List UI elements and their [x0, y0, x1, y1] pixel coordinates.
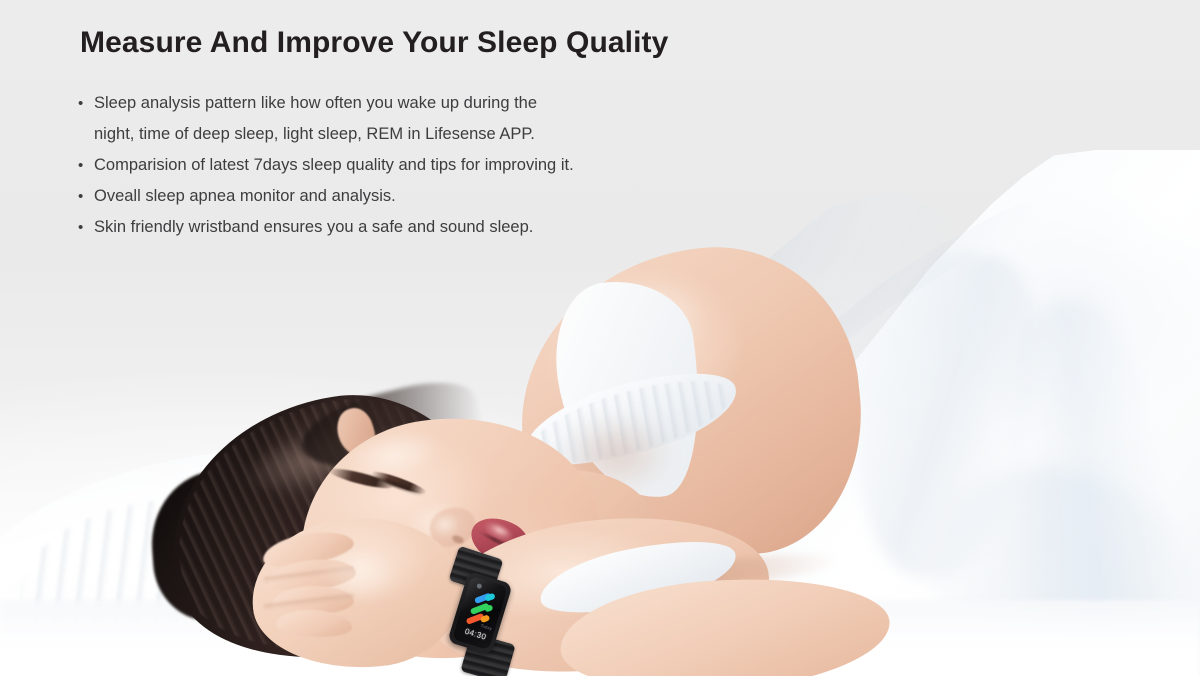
watch-sub-label: Today — [480, 623, 493, 631]
list-item-text: Sleep analysis pattern like how often yo… — [94, 88, 798, 150]
list-item-line: night, time of deep sleep, light sleep, … — [94, 119, 798, 150]
list-item-text: Comparision of latest 7days sleep qualit… — [94, 150, 798, 181]
list-item: • Comparision of latest 7days sleep qual… — [78, 150, 798, 181]
list-item-text: Oveall sleep apnea monitor and analysis. — [94, 181, 798, 212]
bullet-icon: • — [78, 150, 94, 181]
list-item: • Skin friendly wristband ensures you a … — [78, 212, 798, 243]
sleep-quality-banner: Today 04:30 Measure And Improve Your Sle… — [0, 0, 1200, 676]
bullet-icon: • — [78, 212, 94, 243]
watch-screen: Today 04:30 — [452, 576, 508, 650]
knuckle-highlight — [300, 540, 420, 620]
bullet-icon: • — [78, 181, 94, 212]
smartwatch: Today 04:30 — [449, 552, 517, 676]
list-item-line: Oveall sleep apnea monitor and analysis. — [94, 187, 396, 205]
accent-bar-icon — [480, 614, 491, 623]
list-item: • Oveall sleep apnea monitor and analysi… — [78, 181, 798, 212]
list-item-line: Skin friendly wristband ensures you a sa… — [94, 218, 533, 236]
feature-list: • Sleep analysis pattern like how often … — [78, 88, 798, 243]
watch-status-dot — [476, 583, 482, 589]
light-sleep-bar-icon — [484, 604, 494, 612]
page-title: Measure And Improve Your Sleep Quality — [80, 26, 668, 60]
list-item-line: Sleep analysis pattern like how often yo… — [94, 94, 537, 112]
list-item: • Sleep analysis pattern like how often … — [78, 88, 798, 150]
copy-block: Measure And Improve Your Sleep Quality •… — [0, 0, 1200, 300]
list-item-text: Skin friendly wristband ensures you a sa… — [94, 212, 798, 243]
list-item-line: Comparision of latest 7days sleep qualit… — [94, 156, 574, 174]
bullet-icon: • — [78, 88, 94, 119]
